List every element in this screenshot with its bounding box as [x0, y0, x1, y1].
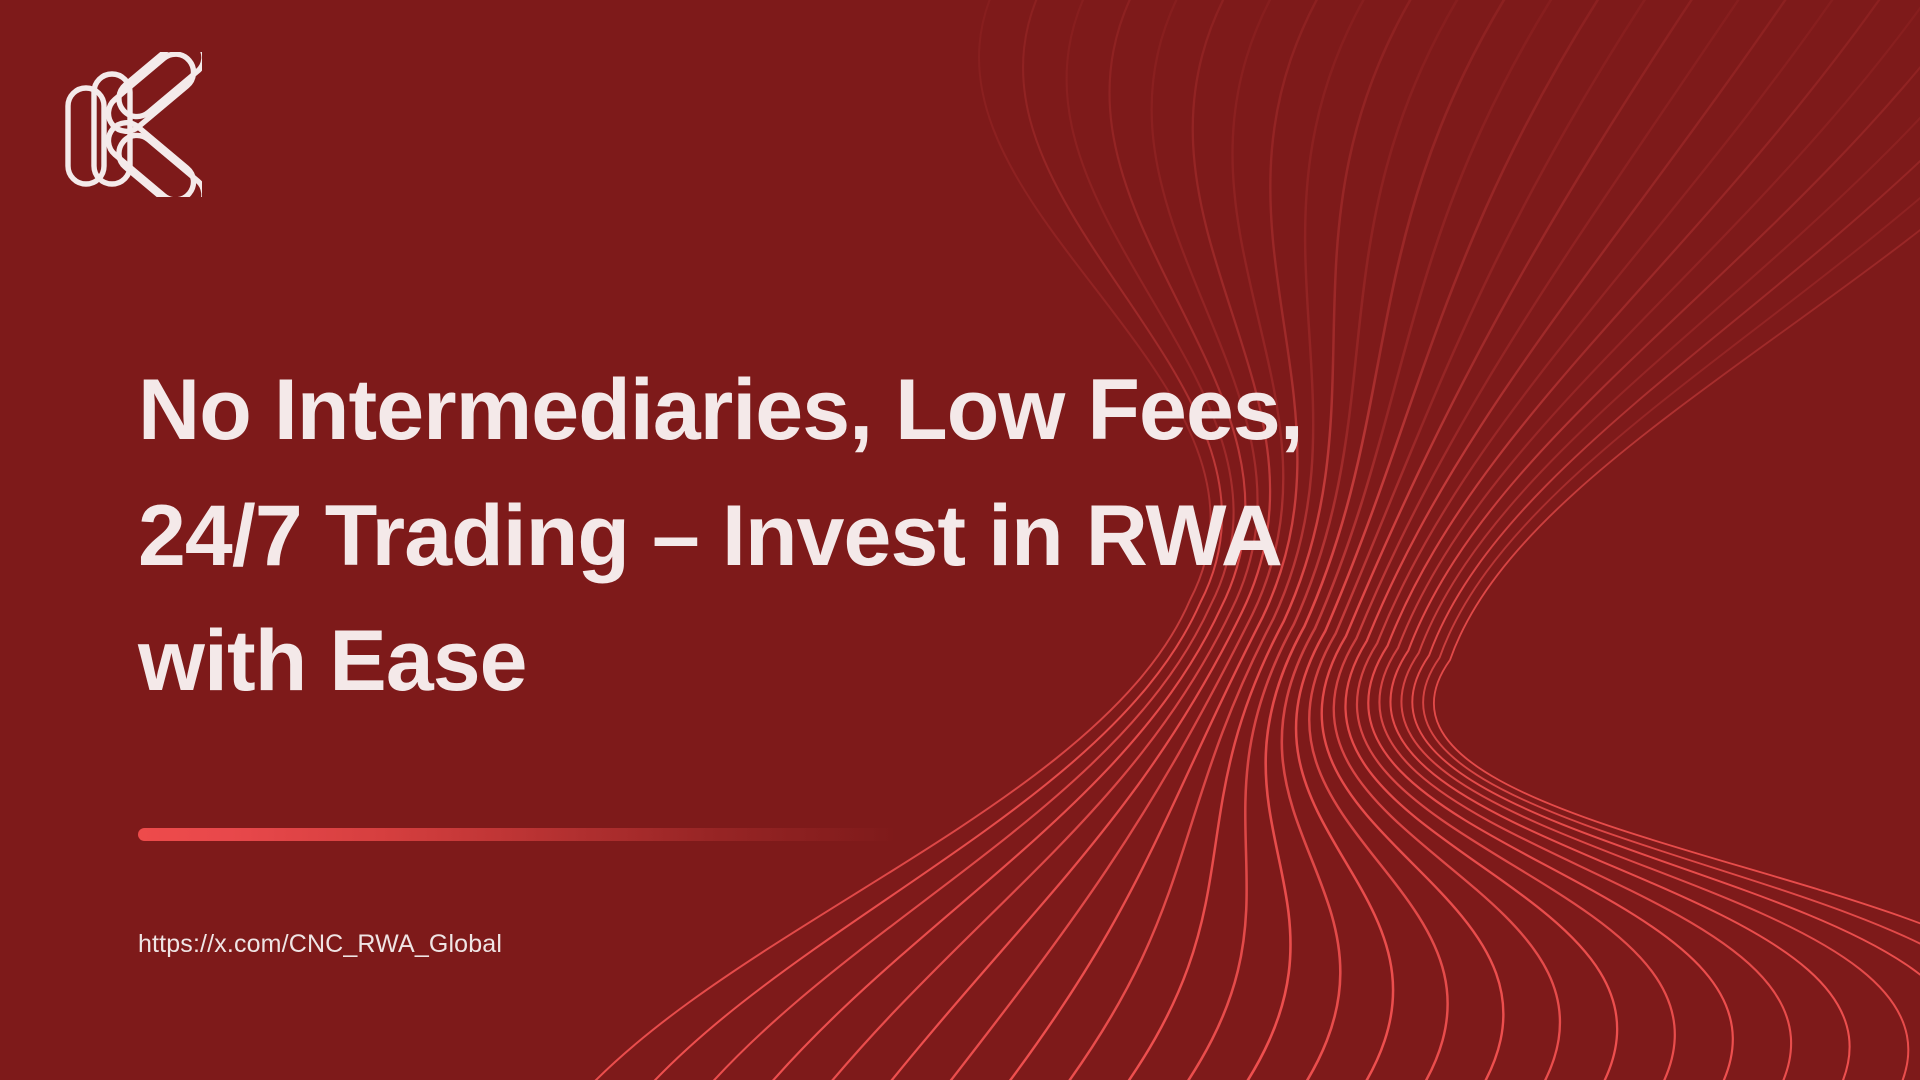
decorative-curve [1423, 0, 1920, 1080]
content-block: No Intermediaries, Low Fees, 24/7 Tradin… [138, 0, 1428, 1080]
profile-url[interactable]: https://x.com/CNC_RWA_Global [138, 930, 502, 959]
decorative-curve [1390, 0, 1920, 1080]
page-title: No Intermediaries, Low Fees, 24/7 Tradin… [138, 348, 1428, 725]
decorative-curve [1401, 0, 1920, 1080]
decorative-curve [1434, 0, 1920, 1080]
decorative-curve [1379, 0, 1920, 1080]
decorative-curve [1357, 0, 1860, 1080]
decorative-curve [1368, 0, 1907, 1080]
gradient-divider [138, 828, 898, 841]
decorative-curve [1412, 0, 1920, 1080]
slide-canvas: No Intermediaries, Low Fees, 24/7 Tradin… [0, 0, 1920, 1080]
logo-stroke-left-outer [68, 88, 104, 184]
